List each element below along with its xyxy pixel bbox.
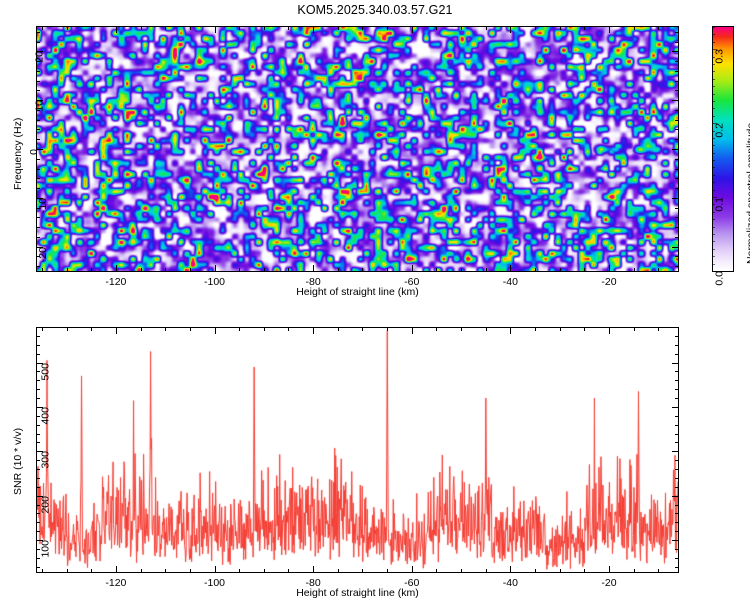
y-tick-label: 300	[40, 451, 52, 469]
x-tick-label: -100	[199, 276, 231, 288]
colorbar-minor-tick	[713, 197, 717, 198]
x-tick	[313, 566, 314, 572]
spectrogram-ylabel: Frequency (Hz)	[12, 118, 24, 190]
x-minor-tick	[584, 268, 585, 271]
colorbar-minor-tick	[713, 160, 715, 161]
snr-trace-line	[37, 328, 678, 572]
x-minor-tick	[436, 328, 437, 331]
colorbar-minor-tick	[713, 79, 715, 80]
x-minor-tick	[67, 328, 68, 331]
y-minor-tick	[37, 434, 40, 435]
x-minor-tick	[165, 569, 166, 572]
x-tick-label: -120	[100, 577, 132, 589]
x-minor-tick	[362, 27, 363, 30]
x-minor-tick	[535, 268, 536, 271]
y-tick	[672, 100, 678, 101]
y-minor-tick	[37, 159, 40, 160]
colorbar-tick-label: 0.1	[714, 197, 726, 212]
x-tick	[116, 265, 117, 271]
x-minor-tick	[461, 268, 462, 271]
colorbar-minor-tick	[713, 190, 715, 191]
x-minor-tick	[436, 268, 437, 271]
x-minor-tick	[288, 268, 289, 271]
x-minor-tick	[387, 328, 388, 331]
x-minor-tick	[264, 27, 265, 30]
y-minor-tick	[37, 460, 40, 461]
x-minor-tick	[338, 268, 339, 271]
x-tick	[215, 27, 216, 33]
y-tick-label: -10	[37, 198, 49, 213]
x-minor-tick	[165, 328, 166, 331]
colorbar-minor-tick	[713, 204, 715, 205]
x-minor-tick	[486, 27, 487, 30]
y-minor-tick	[37, 513, 40, 514]
x-minor-tick	[658, 27, 659, 30]
x-minor-tick	[658, 569, 659, 572]
x-minor-tick	[239, 569, 240, 572]
y-minor-tick	[37, 389, 40, 390]
x-minor-tick	[165, 27, 166, 30]
y-minor-tick	[37, 120, 40, 121]
colorbar-minor-tick	[713, 212, 715, 213]
x-minor-tick	[42, 569, 43, 572]
x-tick	[116, 328, 117, 334]
x-minor-tick	[288, 569, 289, 572]
figure-title: KOM5.2025.340.03.57.G21	[0, 3, 750, 17]
colorbar-minor-tick	[713, 42, 715, 43]
y-minor-tick	[675, 81, 678, 82]
x-minor-tick	[239, 328, 240, 331]
y-minor-tick	[37, 354, 40, 355]
x-minor-tick	[461, 27, 462, 30]
y-minor-tick	[675, 208, 678, 209]
y-tick	[672, 407, 678, 408]
y-minor-tick	[675, 159, 678, 160]
y-minor-tick	[37, 380, 40, 381]
x-minor-tick	[560, 268, 561, 271]
x-minor-tick	[584, 27, 585, 30]
y-minor-tick	[675, 42, 678, 43]
x-minor-tick	[42, 328, 43, 331]
x-minor-tick	[91, 328, 92, 331]
y-minor-tick	[675, 505, 678, 506]
y-minor-tick	[675, 139, 678, 140]
x-minor-tick	[165, 268, 166, 271]
x-minor-tick	[91, 569, 92, 572]
y-minor-tick	[37, 227, 40, 228]
y-minor-tick	[675, 71, 678, 72]
x-minor-tick	[560, 569, 561, 572]
colorbar-minor-tick	[713, 219, 715, 220]
x-tick	[412, 265, 413, 271]
x-tick	[510, 328, 511, 334]
y-minor-tick	[37, 416, 40, 417]
y-minor-tick	[37, 61, 40, 62]
colorbar-minor-tick	[713, 94, 715, 95]
x-minor-tick	[535, 27, 536, 30]
y-minor-tick	[675, 90, 678, 91]
x-minor-tick	[141, 27, 142, 30]
x-minor-tick	[387, 27, 388, 30]
colorbar-minor-tick	[713, 49, 717, 50]
y-minor-tick	[675, 256, 678, 257]
y-minor-tick	[675, 371, 678, 372]
y-minor-tick	[675, 178, 678, 179]
colorbar-minor-tick	[713, 249, 715, 250]
x-minor-tick	[67, 569, 68, 572]
y-minor-tick	[37, 558, 40, 559]
x-tick-label: -20	[593, 276, 625, 288]
x-tick	[510, 566, 511, 572]
y-minor-tick	[37, 505, 40, 506]
y-minor-tick	[675, 266, 678, 267]
y-tick-label: 500	[40, 363, 52, 381]
y-minor-tick	[675, 61, 678, 62]
x-minor-tick	[461, 328, 462, 331]
y-minor-tick	[675, 469, 678, 470]
y-tick	[672, 540, 678, 541]
y-minor-tick	[37, 522, 40, 523]
y-minor-tick	[675, 531, 678, 532]
x-tick	[116, 566, 117, 572]
y-minor-tick	[675, 434, 678, 435]
colorbar-minor-tick	[713, 234, 715, 235]
y-minor-tick	[675, 416, 678, 417]
x-minor-tick	[486, 328, 487, 331]
x-minor-tick	[190, 268, 191, 271]
x-minor-tick	[141, 569, 142, 572]
x-minor-tick	[535, 328, 536, 331]
y-minor-tick	[675, 522, 678, 523]
y-minor-tick	[675, 442, 678, 443]
y-minor-tick	[675, 549, 678, 550]
y-minor-tick	[675, 478, 678, 479]
y-minor-tick	[37, 549, 40, 550]
y-minor-tick	[37, 442, 40, 443]
colorbar-minor-tick	[713, 264, 715, 265]
y-tick-label: 100	[40, 540, 52, 558]
x-minor-tick	[338, 27, 339, 30]
x-minor-tick	[584, 328, 585, 331]
y-tick	[672, 363, 678, 364]
y-minor-tick	[675, 120, 678, 121]
colorbar-minor-tick	[713, 153, 715, 154]
x-tick	[215, 566, 216, 572]
colorbar-minor-tick	[713, 27, 715, 28]
spectrogram-xlabel: Height of straight line (km)	[236, 286, 479, 298]
x-tick-label: -100	[199, 577, 231, 589]
colorbar-minor-tick	[713, 108, 715, 109]
x-minor-tick	[387, 569, 388, 572]
x-tick	[313, 265, 314, 271]
spectrogram-panel	[36, 26, 679, 272]
y-minor-tick	[675, 487, 678, 488]
x-minor-tick	[141, 328, 142, 331]
x-minor-tick	[141, 268, 142, 271]
y-minor-tick	[37, 371, 40, 372]
x-tick	[609, 265, 610, 271]
y-tick	[672, 198, 678, 199]
y-minor-tick	[675, 460, 678, 461]
x-tick	[412, 27, 413, 33]
x-tick	[412, 328, 413, 334]
x-minor-tick	[560, 27, 561, 30]
y-minor-tick	[37, 345, 40, 346]
x-minor-tick	[190, 27, 191, 30]
y-minor-tick	[675, 380, 678, 381]
colorbar-minor-tick	[713, 123, 717, 124]
x-minor-tick	[461, 569, 462, 572]
x-minor-tick	[387, 268, 388, 271]
x-minor-tick	[67, 268, 68, 271]
colorbar-minor-tick	[713, 167, 715, 168]
x-minor-tick	[239, 27, 240, 30]
x-minor-tick	[91, 268, 92, 271]
snr-ylabel: SNR (10 * v/v)	[12, 428, 24, 495]
colorbar-minor-tick	[713, 57, 715, 58]
colorbar-label: Normalized spectral amplitude	[745, 123, 750, 264]
x-tick-label: -40	[494, 276, 526, 288]
y-minor-tick	[37, 90, 40, 91]
colorbar-minor-tick	[713, 271, 717, 272]
x-minor-tick	[362, 328, 363, 331]
y-minor-tick	[675, 567, 678, 568]
y-minor-tick	[675, 558, 678, 559]
colorbar-minor-tick	[713, 175, 715, 176]
colorbar-minor-tick	[713, 71, 715, 72]
x-minor-tick	[239, 268, 240, 271]
colorbar-minor-tick	[713, 34, 715, 35]
colorbar-minor-tick	[713, 227, 715, 228]
x-tick-label: -40	[494, 577, 526, 589]
x-minor-tick	[535, 569, 536, 572]
x-minor-tick	[560, 328, 561, 331]
y-minor-tick	[675, 110, 678, 111]
x-tick	[313, 328, 314, 334]
x-tick	[609, 27, 610, 33]
snr-xlabel: Height of straight line (km)	[236, 587, 479, 599]
y-minor-tick	[675, 129, 678, 130]
y-minor-tick	[37, 217, 40, 218]
y-minor-tick	[675, 32, 678, 33]
x-minor-tick	[264, 328, 265, 331]
y-minor-tick	[37, 178, 40, 179]
y-minor-tick	[675, 354, 678, 355]
x-minor-tick	[42, 268, 43, 271]
colorbar-minor-tick	[713, 131, 715, 132]
y-minor-tick	[37, 425, 40, 426]
y-minor-tick	[675, 398, 678, 399]
colorbar-minor-tick	[713, 116, 715, 117]
x-minor-tick	[634, 268, 635, 271]
y-tick-label: 400	[40, 407, 52, 425]
y-minor-tick	[37, 256, 40, 257]
x-minor-tick	[634, 328, 635, 331]
x-tick	[412, 566, 413, 572]
x-tick	[215, 265, 216, 271]
colorbar-tick-label: 0.2	[714, 123, 726, 138]
y-minor-tick	[37, 169, 40, 170]
y-minor-tick	[37, 469, 40, 470]
colorbar-minor-tick	[713, 241, 715, 242]
y-tick-label: -20	[37, 247, 49, 262]
y-minor-tick	[37, 237, 40, 238]
y-minor-tick	[37, 188, 40, 189]
x-minor-tick	[436, 27, 437, 30]
snr-panel	[36, 327, 679, 573]
y-tick	[672, 496, 678, 497]
colorbar-tick-label: 0.0	[714, 271, 726, 286]
colorbar-minor-tick	[713, 64, 715, 65]
y-minor-tick	[675, 425, 678, 426]
y-tick	[672, 451, 678, 452]
y-tick	[672, 51, 678, 52]
y-minor-tick	[37, 139, 40, 140]
x-minor-tick	[486, 268, 487, 271]
x-tick-label: -120	[100, 276, 132, 288]
y-minor-tick	[37, 42, 40, 43]
colorbar-minor-tick	[713, 138, 715, 139]
x-tick	[215, 328, 216, 334]
x-tick	[510, 265, 511, 271]
spectrogram-image	[37, 27, 678, 271]
y-minor-tick	[37, 567, 40, 568]
x-tick	[510, 27, 511, 33]
y-minor-tick	[37, 81, 40, 82]
y-minor-tick	[37, 531, 40, 532]
y-minor-tick	[675, 389, 678, 390]
x-minor-tick	[264, 569, 265, 572]
y-minor-tick	[37, 487, 40, 488]
y-minor-tick	[37, 208, 40, 209]
x-minor-tick	[288, 328, 289, 331]
x-minor-tick	[634, 27, 635, 30]
x-minor-tick	[436, 569, 437, 572]
y-tick-label: 200	[40, 496, 52, 514]
y-minor-tick	[675, 336, 678, 337]
x-minor-tick	[338, 569, 339, 572]
colorbar-minor-tick	[713, 182, 715, 183]
colorbar-minor-tick	[713, 101, 715, 102]
x-tick	[609, 566, 610, 572]
colorbar-minor-tick	[713, 145, 715, 146]
y-minor-tick	[675, 345, 678, 346]
x-minor-tick	[67, 27, 68, 30]
x-minor-tick	[264, 268, 265, 271]
x-minor-tick	[486, 569, 487, 572]
figure-root: KOM5.2025.340.03.57.G21 -120-100-80-60-4…	[0, 0, 750, 600]
colorbar-minor-tick	[713, 86, 715, 87]
y-minor-tick	[37, 71, 40, 72]
x-tick-label: -20	[593, 577, 625, 589]
x-minor-tick	[584, 569, 585, 572]
y-minor-tick	[37, 129, 40, 130]
x-minor-tick	[658, 328, 659, 331]
y-minor-tick	[37, 478, 40, 479]
y-minor-tick	[675, 237, 678, 238]
x-minor-tick	[190, 328, 191, 331]
y-minor-tick	[37, 32, 40, 33]
y-minor-tick	[37, 110, 40, 111]
colorbar-tick-label: 0.3	[714, 49, 726, 64]
y-minor-tick	[675, 217, 678, 218]
y-minor-tick	[675, 227, 678, 228]
y-tick	[672, 247, 678, 248]
y-minor-tick	[675, 188, 678, 189]
y-minor-tick	[675, 513, 678, 514]
x-tick	[116, 27, 117, 33]
y-tick-label: 0	[28, 149, 40, 155]
x-minor-tick	[658, 268, 659, 271]
y-minor-tick	[37, 266, 40, 267]
x-minor-tick	[362, 268, 363, 271]
y-tick	[672, 149, 678, 150]
x-minor-tick	[634, 569, 635, 572]
colorbar-minor-tick	[713, 256, 715, 257]
y-minor-tick	[37, 336, 40, 337]
x-minor-tick	[91, 27, 92, 30]
x-tick	[609, 328, 610, 334]
x-tick	[313, 27, 314, 33]
x-minor-tick	[190, 569, 191, 572]
y-minor-tick	[37, 398, 40, 399]
y-minor-tick	[675, 169, 678, 170]
x-minor-tick	[42, 27, 43, 30]
x-minor-tick	[362, 569, 363, 572]
x-minor-tick	[338, 328, 339, 331]
x-minor-tick	[288, 27, 289, 30]
